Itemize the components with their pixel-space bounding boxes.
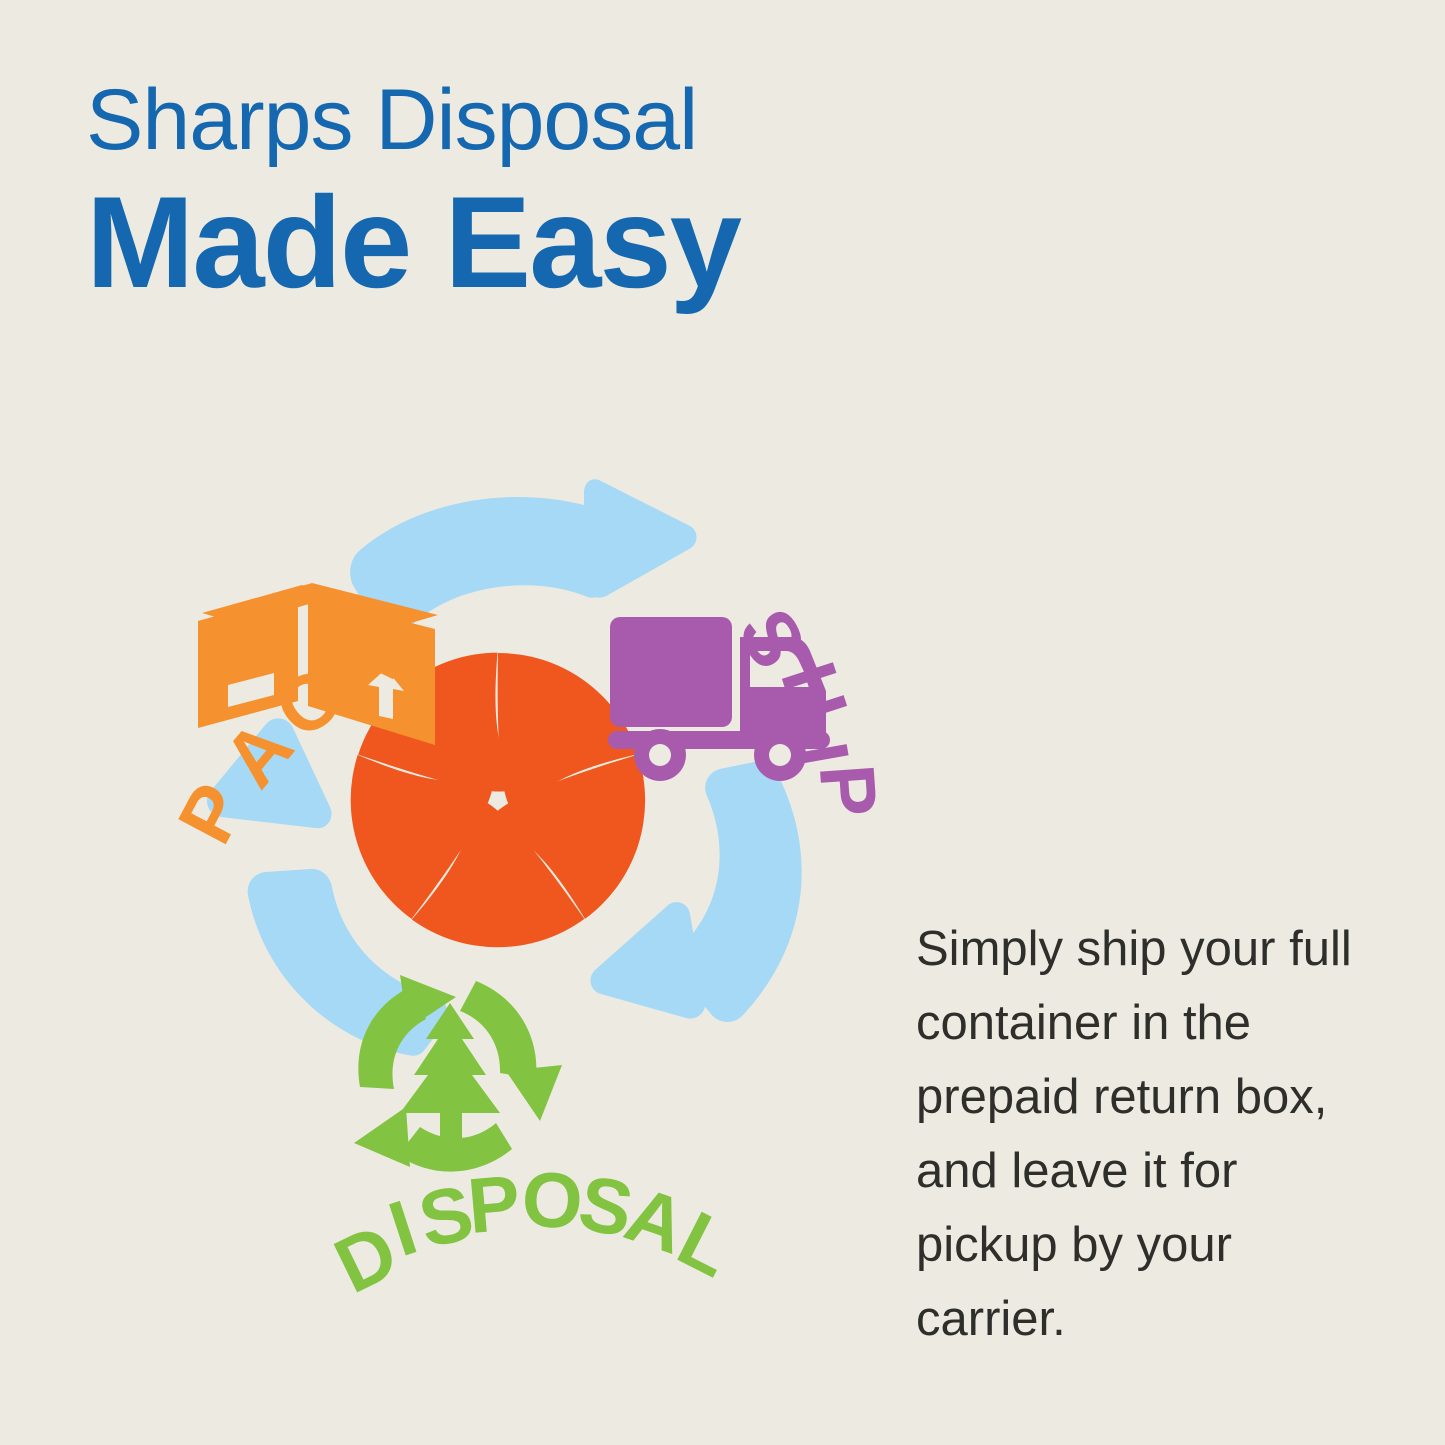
step-label-letter: P bbox=[464, 1157, 524, 1252]
step-label-letter: P bbox=[801, 761, 895, 819]
page-title: Sharps Disposal Made Easy bbox=[86, 72, 740, 312]
page-title-line2: Made Easy bbox=[86, 172, 740, 312]
page-title-line1: Sharps Disposal bbox=[86, 72, 740, 168]
cycle-graphics bbox=[78, 455, 908, 1265]
recycle-tree-icon bbox=[354, 975, 562, 1172]
description-text: Simply ship your full container in the p… bbox=[916, 912, 1386, 1356]
infographic-canvas: Sharps Disposal Made Easy bbox=[0, 0, 1445, 1445]
process-cycle-diagram: PACK SHIP DISPOSAL bbox=[78, 455, 908, 1265]
